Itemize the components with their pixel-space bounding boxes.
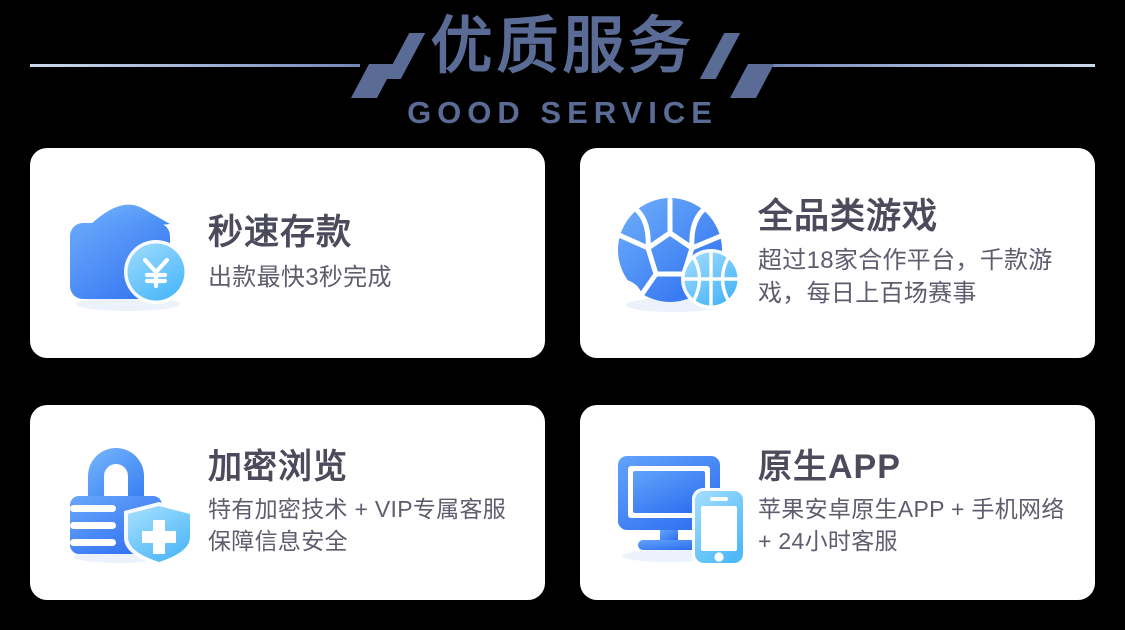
banner-header: 优质服务 GOOD SERVICE [0, 0, 1125, 140]
feature-card-subtitle: 出款最快3秒完成 [208, 261, 527, 294]
monitor-phone-icon [608, 438, 758, 568]
feature-card-encrypted-browsing[interactable]: 加密浏览 特有加密技术 + VIP专属客服保障信息安全 [30, 405, 545, 600]
feature-card-subtitle: 超过18家合作平台，千款游戏，每日上百场赛事 [758, 244, 1077, 310]
feature-card-text: 秒速存款 出款最快3秒完成 [208, 212, 545, 293]
feature-card-subtitle: 苹果安卓原生APP + 手机网络 + 24小时客服 [758, 494, 1077, 557]
page-title-zh: 优质服务 [0, 16, 1125, 78]
feature-card-grid: 秒速存款 出款最快3秒完成 [30, 148, 1095, 600]
feature-card-fast-deposit[interactable]: 秒速存款 出款最快3秒完成 [30, 148, 545, 358]
feature-card-title: 全品类游戏 [758, 196, 1077, 237]
feature-card-title: 原生APP [758, 447, 1077, 487]
feature-card-native-app[interactable]: 原生APP 苹果安卓原生APP + 手机网络 + 24小时客服 [580, 405, 1095, 600]
wallet-yen-icon [58, 188, 208, 318]
feature-card-all-games[interactable]: 全品类游戏 超过18家合作平台，千款游戏，每日上百场赛事 [580, 148, 1095, 358]
feature-card-title: 秒速存款 [208, 212, 527, 253]
promo-banner: 优质服务 GOOD SERVICE [0, 0, 1125, 630]
soccer-basketball-icon [608, 188, 758, 318]
feature-card-text: 加密浏览 特有加密技术 + VIP专属客服保障信息安全 [208, 447, 545, 558]
feature-card-subtitle: 特有加密技术 + VIP专属客服保障信息安全 [208, 494, 527, 557]
feature-card-text: 全品类游戏 超过18家合作平台，千款游戏，每日上百场赛事 [758, 196, 1095, 311]
feature-card-text: 原生APP 苹果安卓原生APP + 手机网络 + 24小时客服 [758, 447, 1095, 558]
lock-shield-icon [58, 438, 208, 568]
feature-card-title: 加密浏览 [208, 447, 527, 487]
page-title-en: GOOD SERVICE [0, 97, 1125, 128]
